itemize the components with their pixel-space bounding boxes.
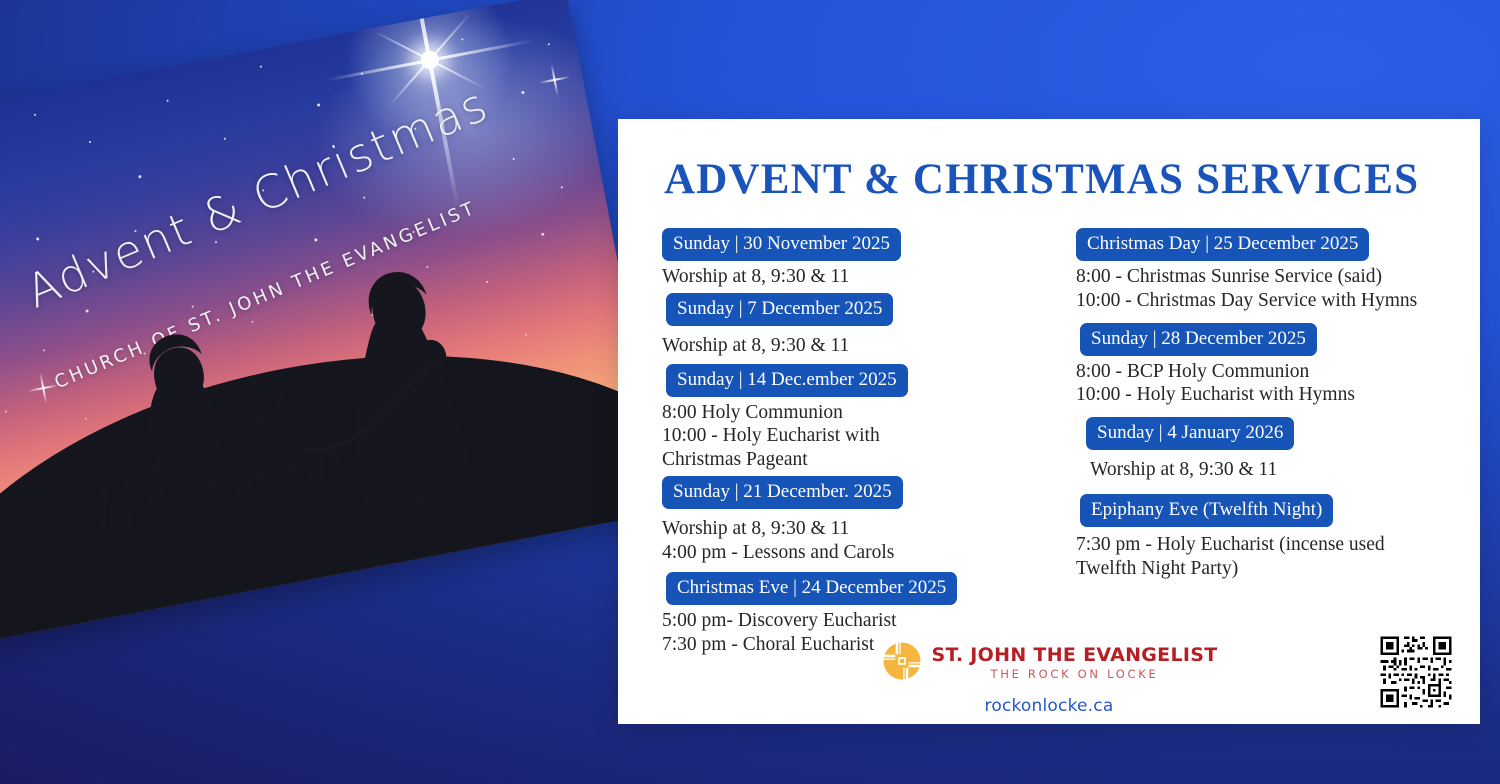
poster-canvas: Advent & Christmas CHURCH OF ST. JOHN TH… [0,0,1500,784]
qr-code-icon[interactable] [1378,634,1454,710]
service-details: 8:00 - BCP Holy Communion 10:00 - Holy E… [1072,356,1442,408]
service-detail-line: 4:00 pm - Lessons and Carols [662,541,1028,565]
service-detail-line: Worship at 8, 9:30 & 11 [662,517,1028,541]
service-date-badge[interactable]: Epiphany Eve (Twelfth Night) [1080,494,1333,527]
service-detail-line: Twelfth Night Party) [1076,557,1442,581]
service-detail-line: Worship at 8, 9:30 & 11 [662,265,1028,289]
service-detail-line: 8:00 - BCP Holy Communion [1076,360,1442,384]
services-info-panel: ADVENT & CHRISTMAS SERVICES Sunday | 30 … [618,119,1480,724]
service-entry: Sunday | 7 December 2025 Worship at 8, 9… [658,293,1028,358]
brand-text: ST. JOHN THE EVANGELIST THE ROCK ON LOCK… [932,646,1218,682]
service-detail-line: Christmas Pageant [662,448,1028,472]
service-entry: Christmas Day | 25 December 2025 8:00 - … [1072,228,1442,313]
service-detail-line: 8:00 Holy Communion [662,401,1028,425]
service-details: Worship at 8, 9:30 & 11 [1086,450,1442,482]
service-detail-line: Worship at 8, 9:30 & 11 [1090,458,1442,482]
service-entry: Sunday | 28 December 2025 8:00 - BCP Hol… [1072,323,1442,408]
service-entry: Sunday | 21 December. 2025 Worship at 8,… [658,476,1028,565]
service-date-badge[interactable]: Sunday | 28 December 2025 [1080,323,1317,356]
jerusalem-cross-icon [881,640,923,687]
services-column-right: Christmas Day | 25 December 2025 8:00 - … [1072,228,1442,661]
service-date-badge[interactable]: Sunday | 14 Dec.ember 2025 [666,364,908,397]
mary-on-donkey-and-joseph-silhouette [0,0,665,643]
nativity-artwork-card: Advent & Christmas CHURCH OF ST. JOHN TH… [0,0,665,643]
service-details: 8:00 Holy Communion 10:00 - Holy Euchari… [658,397,1028,472]
service-details: Worship at 8, 9:30 & 11 4:00 pm - Lesson… [658,509,1028,565]
services-column-left: Sunday | 30 November 2025 Worship at 8, … [658,228,1028,661]
brand-row: ST. JOHN THE EVANGELIST THE ROCK ON LOCK… [881,640,1218,687]
service-date-badge[interactable]: Christmas Day | 25 December 2025 [1076,228,1369,261]
service-detail-line: 8:00 - Christmas Sunrise Service (said) [1076,265,1442,289]
service-detail-line: Worship at 8, 9:30 & 11 [662,334,1028,358]
services-columns: Sunday | 30 November 2025 Worship at 8, … [658,228,1444,661]
service-detail-line: 7:30 pm - Holy Eucharist (incense used [1076,533,1442,557]
service-detail-line: 10:00 - Holy Eucharist with [662,424,1028,448]
footer-brand: ST. JOHN THE EVANGELIST THE ROCK ON LOCK… [618,640,1480,716]
service-date-badge[interactable]: Sunday | 21 December. 2025 [662,476,903,509]
brand-name: ST. JOHN THE EVANGELIST [932,646,1218,666]
service-date-badge[interactable]: Sunday | 4 January 2026 [1086,417,1294,450]
service-entry: Sunday | 4 January 2026 Worship at 8, 9:… [1072,417,1442,482]
service-details: Worship at 8, 9:30 & 11 [658,326,1028,358]
service-detail-line: 10:00 - Holy Eucharist with Hymns [1076,383,1442,407]
service-detail-line: 5:00 pm- Discovery Eucharist [662,609,1028,633]
service-date-badge[interactable]: Sunday | 30 November 2025 [662,228,901,261]
website-link[interactable]: rockonlocke.ca [985,696,1114,716]
service-detail-line: 10:00 - Christmas Day Service with Hymns [1076,289,1442,313]
service-date-badge[interactable]: Sunday | 7 December 2025 [666,293,893,326]
service-entry: Epiphany Eve (Twelfth Night) 7:30 pm - H… [1072,494,1442,581]
page-title: ADVENT & CHRISTMAS SERVICES [664,155,1480,204]
service-entry: Sunday | 30 November 2025 Worship at 8, … [658,228,1028,289]
service-details: 7:30 pm - Holy Eucharist (incense used T… [1072,527,1442,581]
service-details: Worship at 8, 9:30 & 11 [658,261,1028,289]
service-date-badge[interactable]: Christmas Eve | 24 December 2025 [666,572,957,605]
service-details: 8:00 - Christmas Sunrise Service (said) … [1072,261,1442,313]
brand-tagline: THE ROCK ON LOCKE [991,667,1159,681]
service-entry: Sunday | 14 Dec.ember 2025 8:00 Holy Com… [658,364,1028,472]
